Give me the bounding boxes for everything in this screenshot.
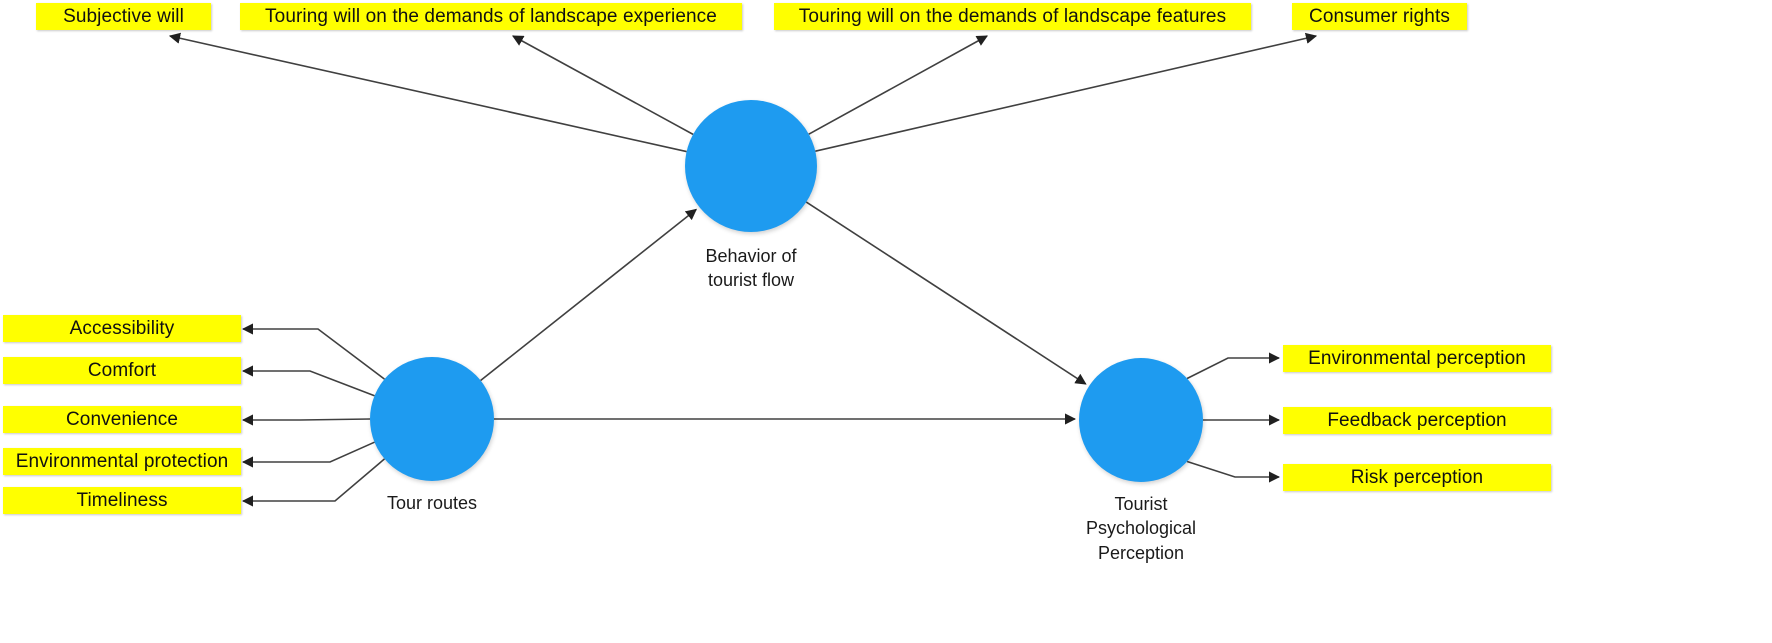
indicator-label: Touring will on the demands of landscape… [799, 7, 1226, 26]
edge-tour-routes-to-accessibility [243, 329, 385, 379]
edge-behavior-to-consumer-rights [815, 36, 1316, 151]
indicator-label: Timeliness [76, 491, 167, 510]
indicator-label: Subjective will [63, 7, 184, 26]
indicator-accessibility[interactable]: Accessibility [3, 315, 241, 342]
edge-tour-routes-to-convenience [243, 419, 370, 420]
edge-layer [0, 0, 1772, 643]
edge-behavior-to-touring-will-landscape-features [809, 36, 987, 134]
edge-perception-to-risk-perception [1187, 462, 1279, 478]
indicator-label: Accessibility [70, 319, 175, 338]
indicator-label: Consumer rights [1309, 7, 1450, 26]
edge-tour-routes-to-behavior [481, 209, 697, 380]
indicator-label: Feedback perception [1327, 411, 1506, 430]
edge-behavior-to-subjective-will [170, 36, 687, 152]
latent-node-behavior-of-tourist-flow[interactable] [685, 100, 817, 232]
indicator-timeliness[interactable]: Timeliness [3, 487, 241, 514]
latent-node-tourist-psychological-perception[interactable] [1079, 358, 1203, 482]
indicator-convenience[interactable]: Convenience [3, 406, 241, 433]
latent-label-behavior-of-tourist-flow: Behavior of tourist flow [621, 244, 881, 293]
indicator-label: Convenience [66, 410, 178, 429]
latent-label-tour-routes: Tour routes [302, 491, 562, 515]
indicator-label: Touring will on the demands of landscape… [265, 7, 717, 26]
latent-label-tourist-psychological-perception: Tourist Psychological Perception [1011, 492, 1271, 565]
edge-perception-to-environmental-perception [1187, 358, 1279, 379]
indicator-environmental-perception[interactable]: Environmental perception [1283, 345, 1551, 372]
indicator-environmental-protection[interactable]: Environmental protection [3, 448, 241, 475]
edge-behavior-to-perception [806, 202, 1085, 384]
indicator-touring-will-landscape-features[interactable]: Touring will on the demands of landscape… [774, 3, 1251, 30]
indicator-label: Environmental perception [1308, 349, 1526, 368]
indicator-touring-will-landscape-experience[interactable]: Touring will on the demands of landscape… [240, 3, 742, 30]
indicator-label: Risk perception [1351, 468, 1483, 487]
diagram-canvas: Subjective willTouring will on the deman… [0, 0, 1772, 643]
edge-tour-routes-to-comfort [243, 371, 375, 396]
edge-behavior-to-touring-will-landscape-experience [513, 36, 693, 134]
latent-node-tour-routes[interactable] [370, 357, 494, 481]
edge-tour-routes-to-environmental-protection [243, 442, 375, 462]
indicator-label: Comfort [88, 361, 156, 380]
indicator-consumer-rights[interactable]: Consumer rights [1292, 3, 1467, 30]
indicator-risk-perception[interactable]: Risk perception [1283, 464, 1551, 491]
indicator-comfort[interactable]: Comfort [3, 357, 241, 384]
indicator-feedback-perception[interactable]: Feedback perception [1283, 407, 1551, 434]
indicator-subjective-will[interactable]: Subjective will [36, 3, 211, 30]
indicator-label: Environmental protection [16, 452, 229, 471]
